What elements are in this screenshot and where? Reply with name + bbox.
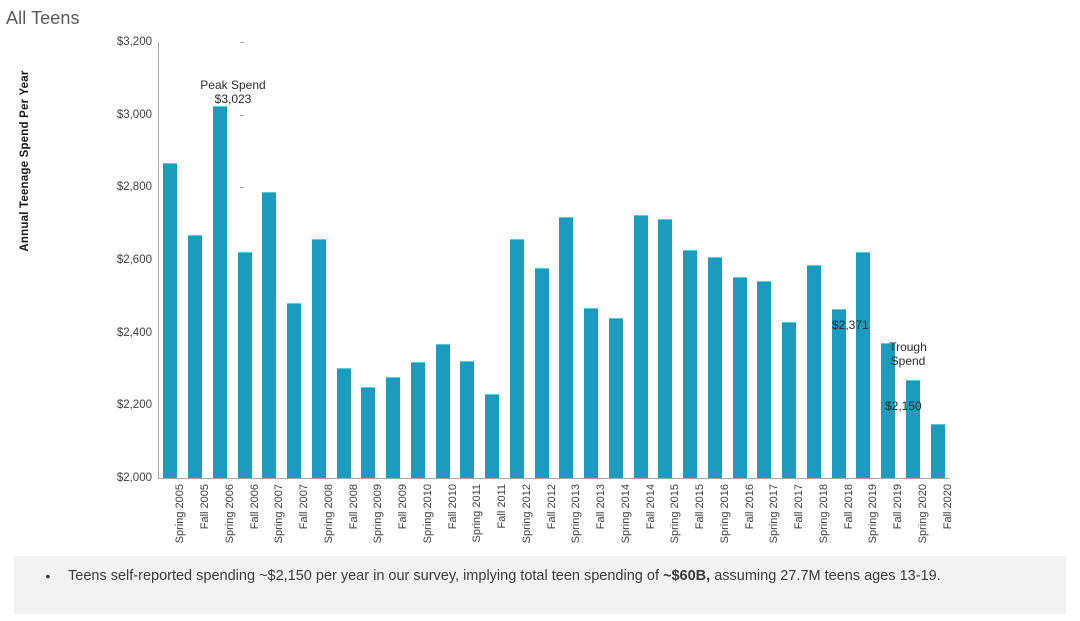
x-axis-tick-label: Fall 2018 <box>843 484 855 529</box>
x-axis-tick-label: Fall 2009 <box>397 484 409 529</box>
y-axis-tick-label: $3,200 <box>92 36 152 48</box>
x-axis-tick-label: Fall 2015 <box>694 484 706 529</box>
x-axis-tick-label: Fall 2006 <box>249 484 261 529</box>
x-axis-tick-label: Fall 2005 <box>199 484 211 529</box>
x-axis-tick-label: Fall 2016 <box>744 484 756 529</box>
x-axis-tick-label: Spring 2017 <box>768 484 780 543</box>
footnote-text-part2: assuming 27.7M teens ages 13-19. <box>710 568 941 584</box>
y-axis-title: Annual Teenage Spend Per Year <box>19 31 31 291</box>
x-axis-tick-label: Spring 2013 <box>570 484 582 543</box>
x-axis-tick-label: Spring 2008 <box>323 484 335 543</box>
annotation-peak-spend: Peak Spend $3,023 <box>178 78 288 106</box>
y-axis-tick-label: $3,000 <box>92 109 152 121</box>
slide-root: All Teens $3,200$3,000$2,800$2,600$2,400… <box>0 0 1080 621</box>
bullet-icon: • <box>28 566 68 586</box>
footnote-text-emphasis: ~$60B, <box>663 568 710 584</box>
x-axis-tick-label: Spring 2010 <box>422 484 434 543</box>
annotation-trough-spend: Trough Spend <box>870 340 946 368</box>
x-axis-tick-label: Fall 2007 <box>298 484 310 529</box>
annotation-value-2371: $2,371 <box>832 318 892 332</box>
x-axis-tick-label: Spring 2011 <box>471 484 483 543</box>
x-axis-tick-label: Spring 2005 <box>174 484 186 543</box>
x-axis-tick-label: Spring 2019 <box>867 484 879 543</box>
x-axis-tick-label: Spring 2009 <box>372 484 384 543</box>
y-axis-tick-label: $2,000 <box>92 472 152 484</box>
x-axis-tick-label: Spring 2015 <box>669 484 681 543</box>
x-axis-tick-label: Spring 2007 <box>273 484 285 543</box>
y-axis-tick-label: $2,200 <box>92 399 152 411</box>
x-axis-tick-label: Spring 2018 <box>818 484 830 543</box>
x-axis-tick-label: Fall 2014 <box>645 484 657 529</box>
x-axis-tick-label: Fall 2020 <box>942 484 954 529</box>
x-axis-tick-label: Fall 2013 <box>595 484 607 529</box>
annotation-value-2150: $2,150 <box>885 399 945 413</box>
x-axis-tick-label: Spring 2020 <box>917 484 929 543</box>
x-axis-tick-label: Fall 2019 <box>892 484 904 529</box>
x-axis-tick-label: Fall 2011 <box>496 484 508 528</box>
x-axis-tick-label: Fall 2012 <box>546 484 558 529</box>
x-axis-tick-label: Fall 2010 <box>447 484 459 529</box>
x-axis-tick-label: Spring 2016 <box>719 484 731 543</box>
bar-chart: $3,200$3,000$2,800$2,600$2,400$2,200$2,0… <box>0 0 1080 548</box>
footnote-text-part1: Teens self-reported spending ~$2,150 per… <box>68 568 663 584</box>
y-axis-tick-label: $2,400 <box>92 327 152 339</box>
x-axis-tick-label: Fall 2008 <box>348 484 360 529</box>
x-axis-tick-label: Fall 2017 <box>793 484 805 529</box>
y-axis-tick-label: $2,800 <box>92 181 152 193</box>
footnote-panel: • Teens self-reported spending ~$2,150 p… <box>14 556 1066 614</box>
y-axis-tick-label: $2,600 <box>92 254 152 266</box>
x-axis-tick-label: Spring 2006 <box>224 484 236 543</box>
footnote-text: Teens self-reported spending ~$2,150 per… <box>68 566 1052 587</box>
y-axis-tick-labels: $3,200$3,000$2,800$2,600$2,400$2,200$2,0… <box>86 0 152 548</box>
x-axis-tick-label: Spring 2014 <box>620 484 632 543</box>
x-axis-tick-label: Spring 2012 <box>521 484 533 543</box>
